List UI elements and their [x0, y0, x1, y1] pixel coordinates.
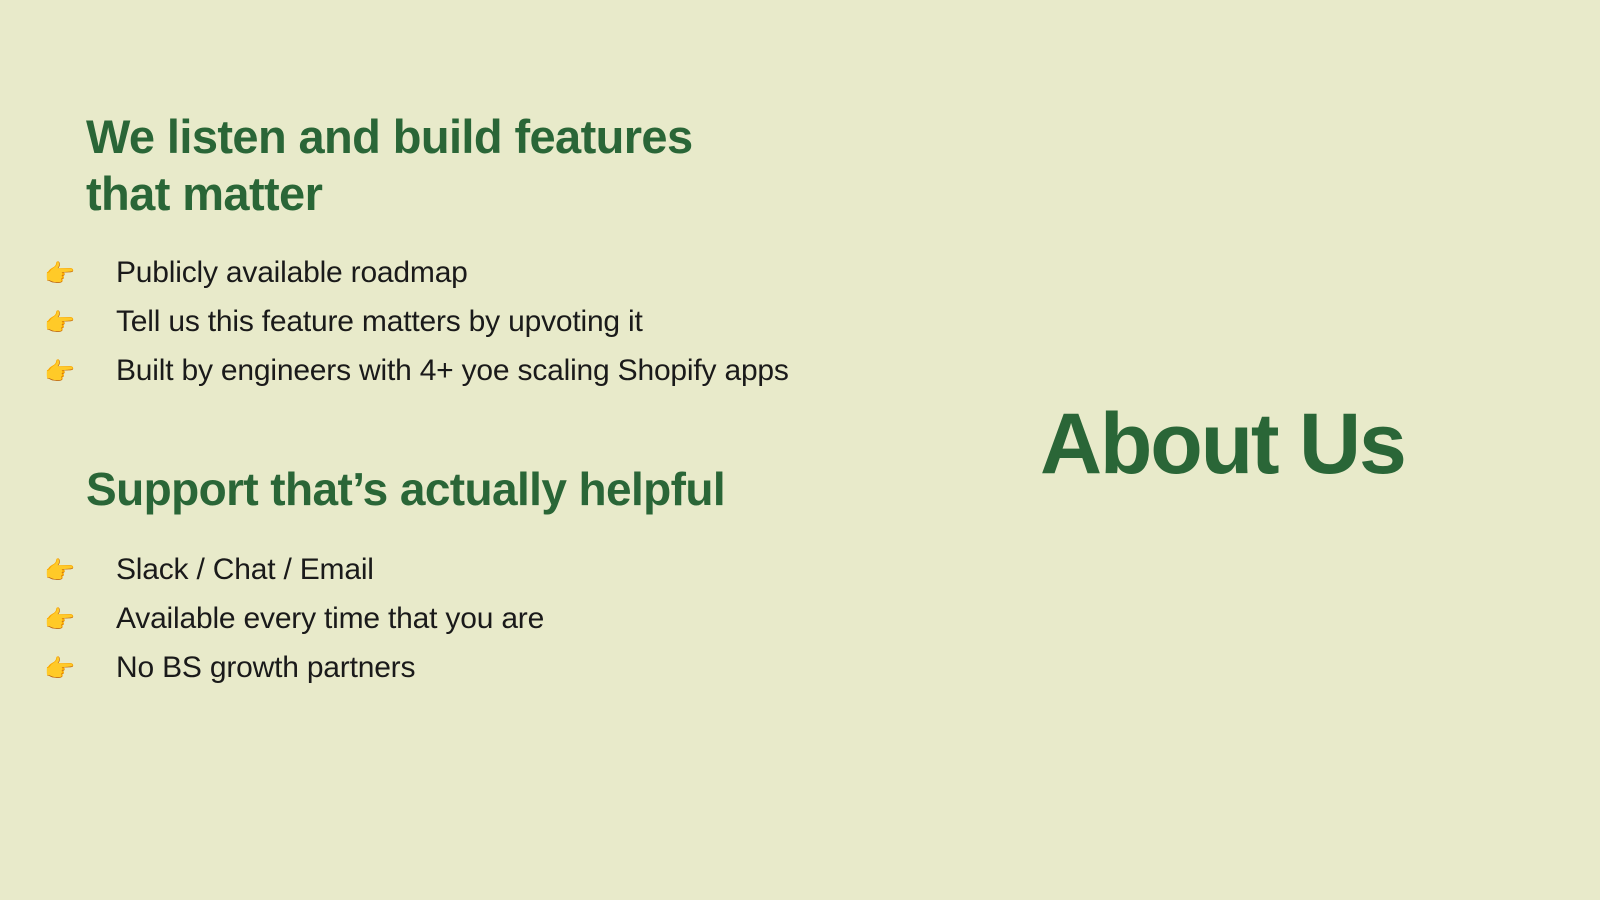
pointing-right-hand-icon: 👉 — [86, 597, 116, 644]
page-title: About Us — [1040, 392, 1405, 496]
section-support: Support that’s actually helpful 👉Slack /… — [86, 462, 846, 693]
list-item: 👉Publicly available roadmap — [86, 249, 846, 298]
bullet-list-listen-and-build: 👉Publicly available roadmap 👉Tell us thi… — [86, 249, 846, 396]
pointing-right-hand-icon: 👉 — [86, 646, 116, 693]
pointing-right-hand-icon: 👉 — [86, 548, 116, 595]
slide-canvas: We listen and build features that matter… — [0, 0, 1600, 900]
section-heading-listen-and-build: We listen and build features that matter — [86, 108, 726, 222]
list-item: 👉Tell us this feature matters by upvotin… — [86, 298, 846, 347]
pointing-right-hand-icon: 👉 — [86, 349, 116, 396]
list-item-label: Slack / Chat / Email — [116, 553, 374, 586]
list-item-label: Built by engineers with 4+ yoe scaling S… — [116, 354, 789, 387]
list-item-label: Tell us this feature matters by upvoting… — [116, 305, 643, 338]
pointing-right-hand-icon: 👉 — [86, 300, 116, 347]
list-item: 👉No BS growth partners — [86, 644, 846, 693]
pointing-right-hand-icon: 👉 — [86, 251, 116, 298]
list-item: 👉Slack / Chat / Email — [86, 546, 846, 595]
bullet-list-support: 👉Slack / Chat / Email 👉Available every t… — [86, 546, 846, 693]
list-item-label: Available every time that you are — [116, 602, 544, 635]
list-item-label: No BS growth partners — [116, 651, 415, 684]
list-item: 👉Available every time that you are — [86, 595, 846, 644]
list-item: 👉Built by engineers with 4+ yoe scaling … — [86, 347, 846, 396]
list-item-label: Publicly available roadmap — [116, 256, 468, 289]
section-heading-support: Support that’s actually helpful — [86, 462, 846, 516]
content-column: We listen and build features that matter… — [86, 108, 846, 693]
section-listen-and-build: We listen and build features that matter… — [86, 108, 846, 396]
